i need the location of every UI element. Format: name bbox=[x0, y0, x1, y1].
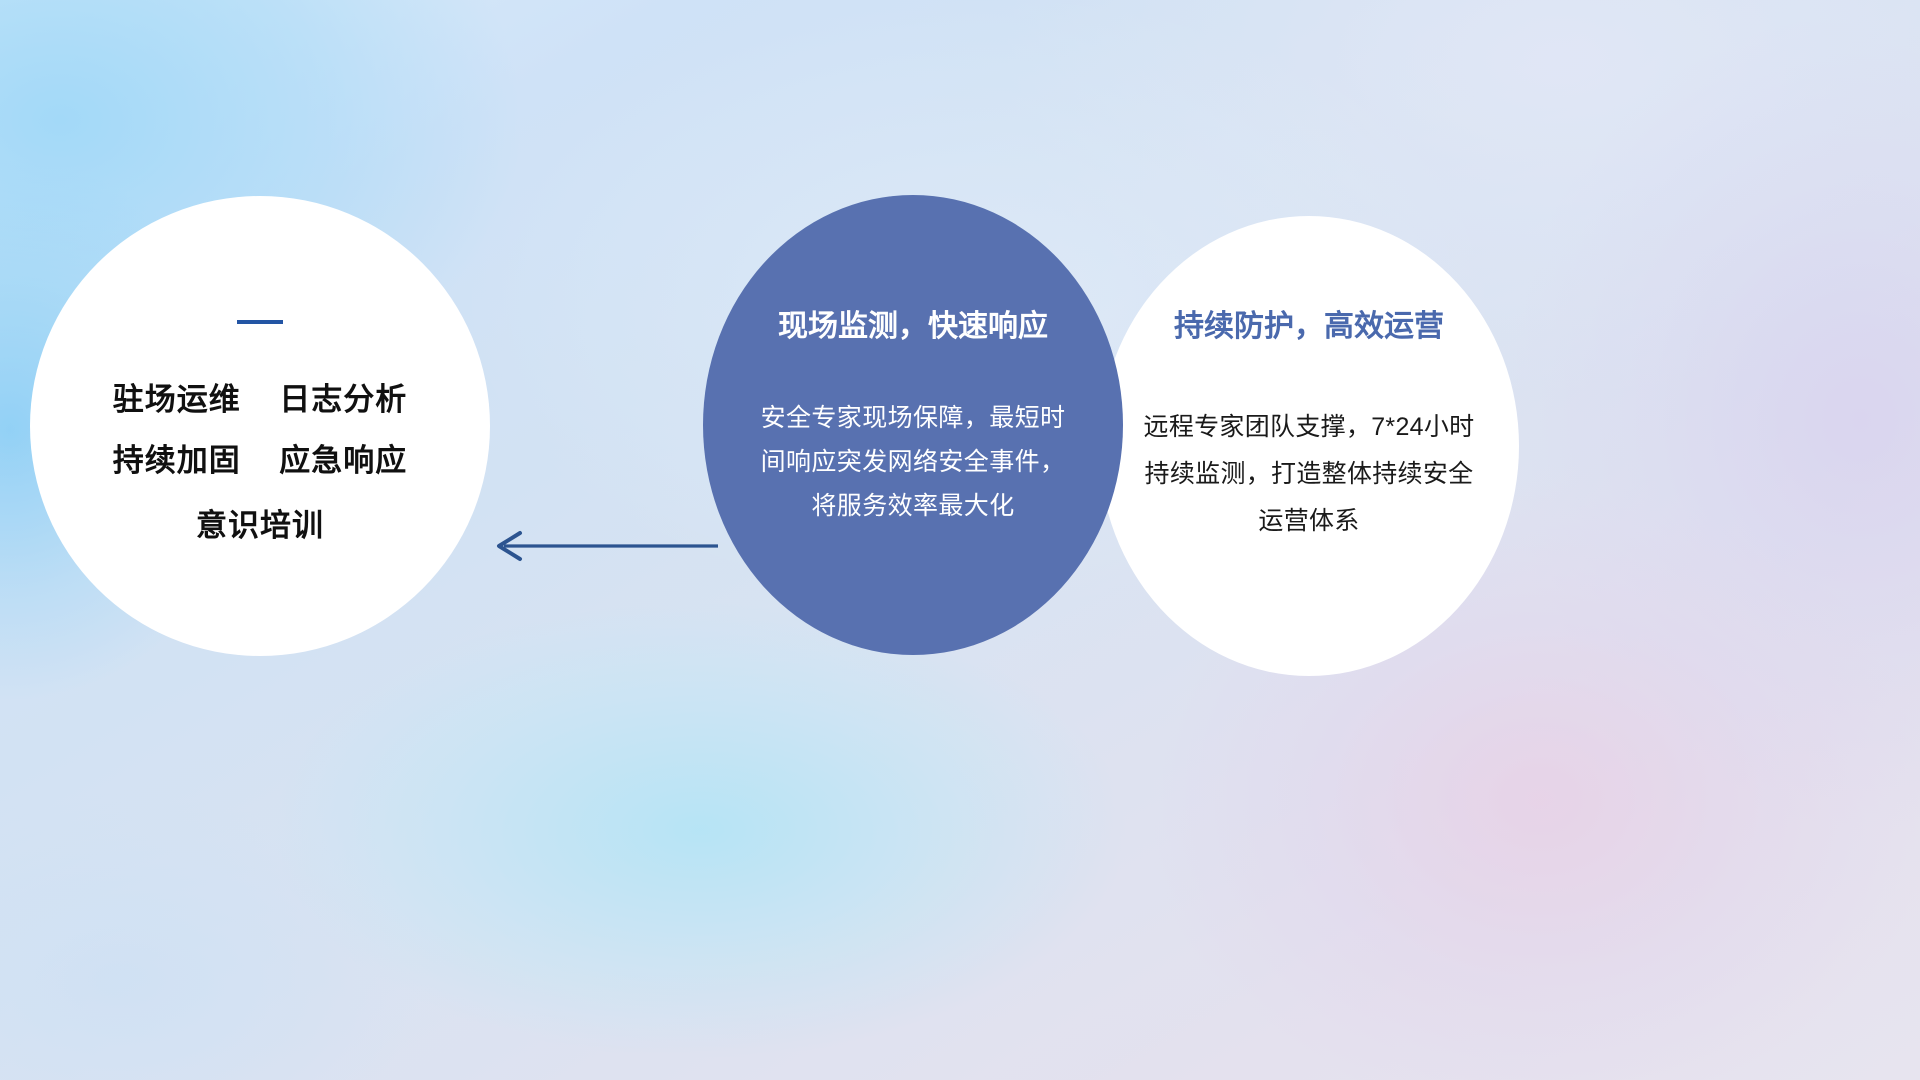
left-circle-content: 驻场运维 日志分析 持续加固 应急响应 意识培训 bbox=[30, 196, 490, 656]
connector-arrow bbox=[490, 520, 720, 577]
middle-circle-title: 现场监测，快速响应 bbox=[778, 312, 1048, 342]
right-circle-title: 持续防护，高效运营 bbox=[1174, 312, 1444, 342]
right-circle-body: 远程专家团队支撑，7*24小时持续监测，打造整体持续安全运营体系 bbox=[1133, 404, 1485, 545]
middle-circle-body: 安全专家现场保障，最短时间响应突发网络安全事件，将服务效率最大化 bbox=[748, 396, 1078, 528]
arrow-left-icon bbox=[490, 520, 720, 572]
left-capability-line-3: 意识培训 bbox=[196, 510, 324, 541]
left-capability-line-2: 持续加固 应急响应 bbox=[113, 445, 407, 476]
right-circle-content: 持续防护，高效运营 远程专家团队支撑，7*24小时持续监测，打造整体持续安全运营… bbox=[1099, 216, 1519, 676]
divider-dash-icon bbox=[237, 320, 283, 324]
slide-canvas: 驻场运维 日志分析 持续加固 应急响应 意识培训 持续防护，高效运营 远程专家团… bbox=[0, 0, 1920, 1080]
left-capability-line-1: 驻场运维 日志分析 bbox=[113, 384, 407, 415]
middle-circle-content: 现场监测，快速响应 安全专家现场保障，最短时间响应突发网络安全事件，将服务效率最… bbox=[703, 195, 1123, 655]
